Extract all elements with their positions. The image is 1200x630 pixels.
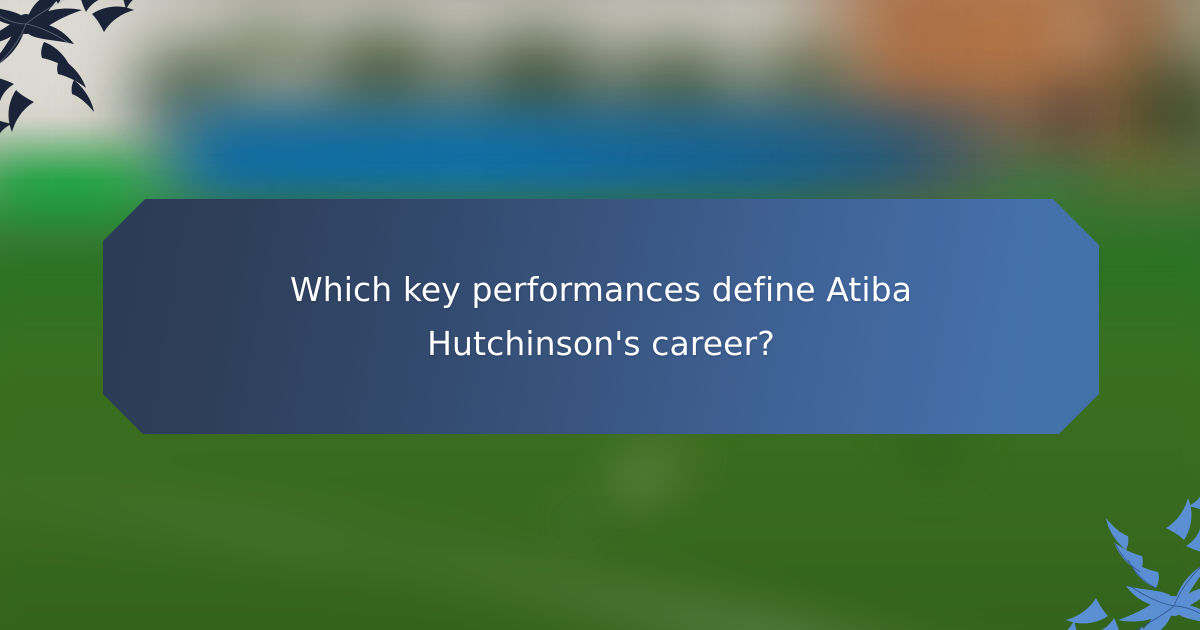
question-text: Which key performances define Atiba Hutc… (251, 263, 951, 370)
question-card: Which key performances define Atiba Hutc… (103, 199, 1099, 434)
question-card-inner: Which key performances define Atiba Hutc… (103, 199, 1099, 434)
share-card-canvas: Which key performances define Atiba Hutc… (0, 0, 1200, 630)
